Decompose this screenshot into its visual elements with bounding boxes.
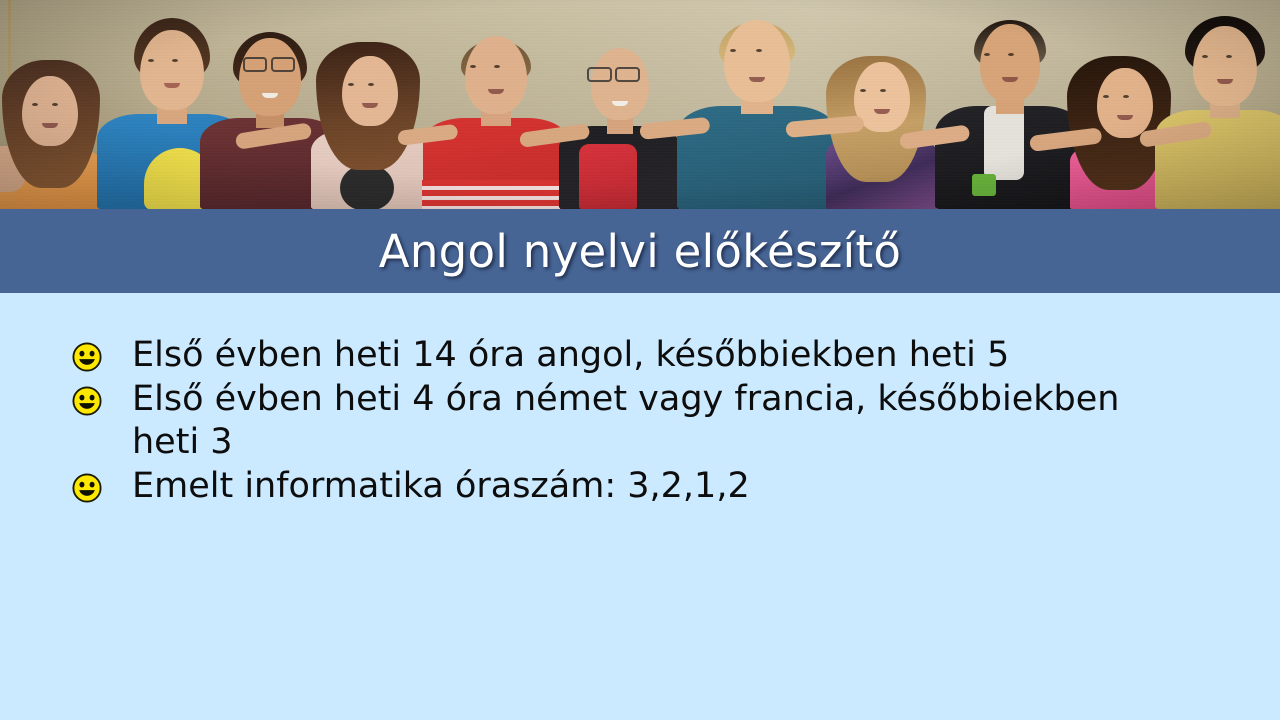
header-photo-banner [0,0,1280,210]
person-1-mouth [42,123,58,128]
person-2-eye-left [148,59,154,62]
list-item: Első évben heti 14 óra angol, későbbiekb… [0,334,1280,376]
smiley-face-icon [72,473,102,503]
person-5-mouth [488,89,504,94]
person-8-eye-left [860,89,866,92]
person-1-eye-right [52,103,58,106]
person-6-glasses-right-lens [615,67,640,82]
person-10-mouth [1117,115,1133,120]
list-item-label: Emelt informatika óraszám: 3,2,1,2 [132,465,750,507]
smiley-face-icon [72,386,102,416]
slide-body: Első évben heti 14 óra angol, későbbiekb… [0,293,1280,720]
person-9-eye-right [1008,53,1014,56]
person-3-glasses-right-lens [271,57,295,72]
person-11-torso [1155,110,1280,210]
person-11-eye-right [1226,55,1232,58]
person-9-jacket-logo [972,174,996,196]
person-1-eye-left [32,103,38,106]
presentation-slide: Angol nyelvi előkészítő Első évben heti … [0,0,1280,720]
slide-title-band: Angol nyelvi előkészítő [0,209,1280,293]
person-9-mouth [1002,77,1018,82]
person-9-inner-shirt [984,106,1024,180]
person-7-head [724,20,790,102]
slide-title: Angol nyelvi előkészítő [379,229,902,274]
person-10-eye-right [1123,95,1129,98]
person-4-head [342,56,398,126]
list-item: Emelt informatika óraszám: 3,2,1,2 [0,465,1280,507]
person-11-eye-left [1202,55,1208,58]
person-11-head [1193,26,1257,106]
person-4-shirt-print [340,166,394,210]
person-6-mouth [612,101,628,106]
bullet-list: Első évben heti 14 óra angol, későbbiekb… [0,293,1280,507]
list-item: Első évben heti 4 óra német vagy francia… [0,378,1280,463]
person-2-eye-right [172,59,178,62]
person-5-eye-right [494,65,500,68]
person-1-head [22,76,78,146]
person-6-glasses-left-lens [587,67,612,82]
person-10-eye-left [1103,95,1109,98]
person-4-eye-left [348,83,354,86]
person-5-eye-left [470,65,476,68]
person-4-eye-right [368,83,374,86]
person-7-eye-left [730,49,736,52]
person-9-eye-left [984,53,990,56]
person-5-head [465,36,527,114]
person-3-mouth [262,93,278,98]
person-7-eye-right [756,49,762,52]
person-4-mouth [362,103,378,108]
person-3-head [239,38,301,116]
person-6-head [591,48,649,120]
person-8-eye-right [880,89,886,92]
person-8-mouth [874,109,890,114]
list-item-label: Első évben heti 14 óra angol, későbbiekb… [132,334,1009,376]
person-2-mouth [164,83,180,88]
list-item-label: Első évben heti 4 óra német vagy francia… [132,378,1142,463]
smiley-face-icon [72,342,102,372]
person-11-mouth [1217,79,1233,84]
person-5-shirt-stripes [422,180,560,210]
person-3-glasses-left-lens [243,57,267,72]
person-9-head [980,24,1040,102]
person-7-mouth [749,77,765,82]
person-10-head [1097,68,1153,138]
person-11 [1150,10,1280,210]
